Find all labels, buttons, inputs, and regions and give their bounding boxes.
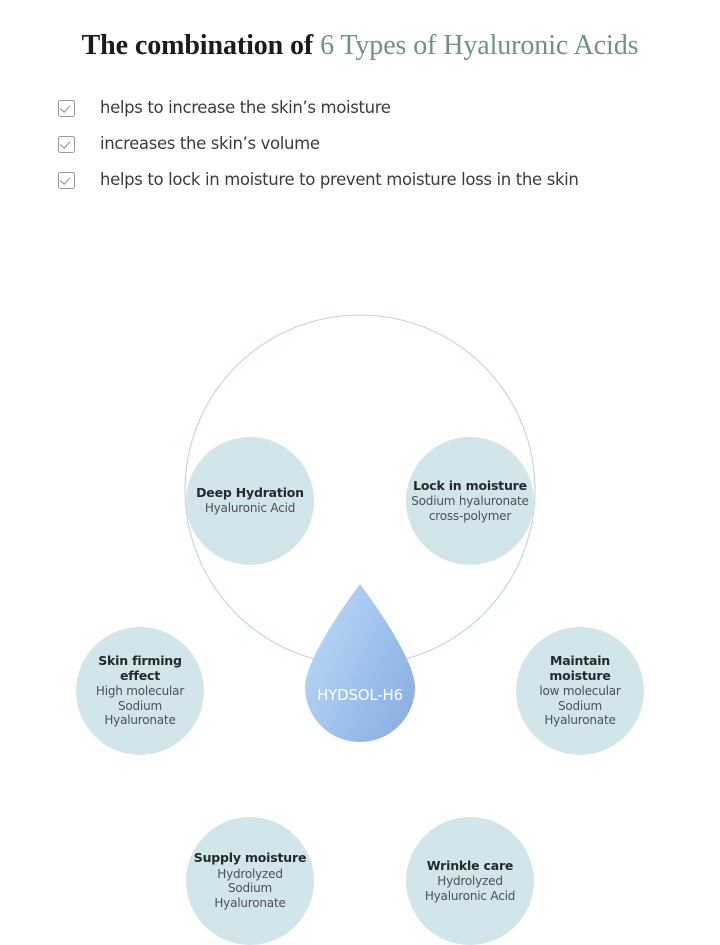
title-highlight: 6 Types of Hyaluronic Acids <box>320 30 638 61</box>
list-item: helps to lock in moisture to prevent moi… <box>58 162 698 198</box>
node-subtitle: Sodium hyaluronatecross-polymer <box>411 494 528 523</box>
list-item: helps to increase the skin’s moisture <box>58 90 698 126</box>
checkbox-checked-icon <box>58 100 75 117</box>
center-droplet: HYDSOL-H6 <box>305 584 415 742</box>
node-wrinkle-care: Wrinkle care HydrolyzedHyaluronic Acid <box>406 817 534 945</box>
node-subtitle: HydrolyzedHyaluronic Acid <box>425 874 515 903</box>
checkbox-checked-icon <box>58 136 75 153</box>
node-subtitle: High molecularSodiumHyaluronate <box>96 684 184 728</box>
page-title: The combination of 6 Types of Hyaluronic… <box>0 30 720 62</box>
node-title: Lock in moisture <box>413 479 527 493</box>
node-skin-firming-effect: Skin firmingeffect High molecularSodiumH… <box>76 627 204 755</box>
node-title: Wrinkle care <box>427 859 513 873</box>
node-supply-moisture: Supply moisture HydrolyzedSodiumHyaluron… <box>186 817 314 945</box>
node-subtitle: low molecularSodiumHyaluronate <box>539 684 620 728</box>
list-item: increases the skin’s volume <box>58 126 698 162</box>
checkbox-checked-icon <box>58 172 75 189</box>
node-lock-in-moisture: Lock in moisture Sodium hyaluronatecross… <box>406 437 534 565</box>
droplet-label: HYDSOL-H6 <box>305 584 415 742</box>
benefits-list: helps to increase the skin’s moisture in… <box>58 90 698 198</box>
node-title: Supply moisture <box>194 851 306 865</box>
node-title: Deep Hydration <box>196 486 304 500</box>
node-deep-hydration: Deep Hydration Hyaluronic Acid <box>186 437 314 565</box>
benefit-text: helps to lock in moisture to prevent moi… <box>100 172 579 189</box>
node-maintain-moisture: Maintainmoisture low molecularSodiumHyal… <box>516 627 644 755</box>
node-title: Maintainmoisture <box>549 654 610 683</box>
node-subtitle: Hyaluronic Acid <box>205 501 295 516</box>
benefit-text: helps to increase the skin’s moisture <box>100 100 391 117</box>
node-title: Skin firmingeffect <box>98 654 182 683</box>
hyaluronic-acid-diagram: Deep Hydration Hyaluronic Acid Lock in m… <box>0 212 720 720</box>
node-subtitle: HydrolyzedSodiumHyaluronate <box>214 867 285 911</box>
title-lead: The combination of <box>82 30 314 61</box>
benefit-text: increases the skin’s volume <box>100 136 320 153</box>
